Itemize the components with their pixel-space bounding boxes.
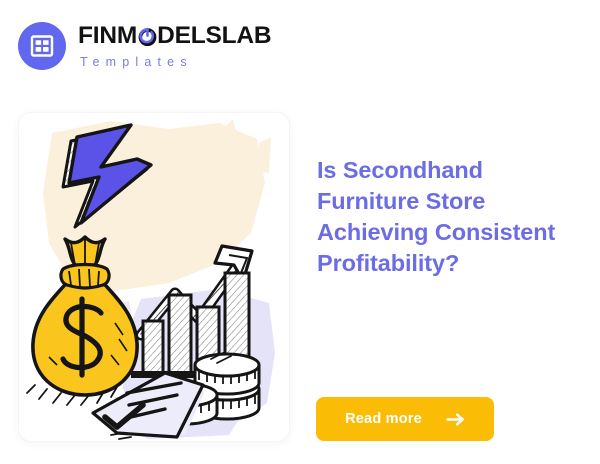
promo-card: FINM DELSLAB Templates	[0, 0, 600, 464]
grid-squares-icon	[18, 22, 66, 70]
arrow-right-icon	[446, 413, 465, 426]
read-more-button[interactable]: Read more	[316, 397, 494, 441]
chart-bar	[169, 295, 191, 375]
power-symbol-icon	[138, 27, 157, 46]
brand-name-part1: FINM	[78, 24, 137, 49]
read-more-label: Read more	[345, 411, 422, 427]
chart-bar	[143, 321, 163, 375]
finance-profitability-illustration	[19, 113, 289, 441]
brand-text-block: FINM DELSLAB Templates	[78, 24, 271, 68]
brand-name-part2: DELSLAB	[157, 24, 271, 49]
page-title: Is Secondhand Furniture Store Achieving …	[317, 155, 569, 279]
brand-subtitle: Templates	[80, 56, 271, 69]
brand-name: FINM DELSLAB	[78, 24, 271, 49]
brand-logo[interactable]: FINM DELSLAB Templates	[18, 22, 271, 70]
